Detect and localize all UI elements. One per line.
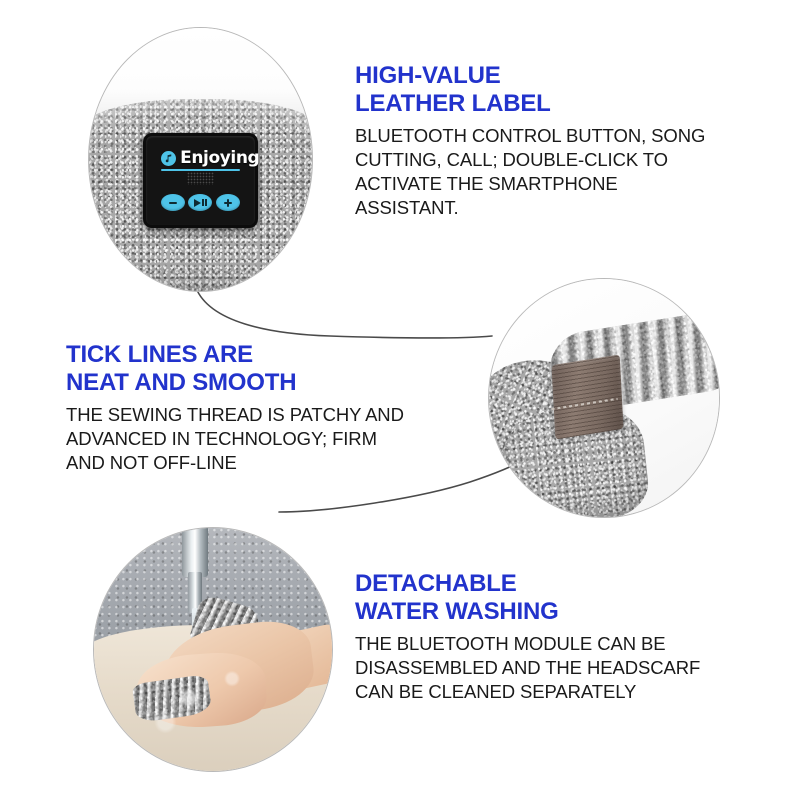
body-line-3: CAN BE CLEANED SEPARATELY	[355, 680, 707, 704]
volume-up-button[interactable]	[216, 194, 240, 211]
body-line-3: ACTIVATE THE SMARTPHONE	[355, 172, 707, 196]
connector-circle1-to-circle2	[196, 288, 492, 338]
pause-icon-bar-1	[202, 199, 204, 206]
photo-leather-label: Enjoying	[88, 27, 313, 292]
feature-text-leather-label: HIGH-VALUE LEATHER LABEL BLUETOOTH CONTR…	[355, 62, 707, 220]
label-accent-rule	[161, 169, 240, 171]
heading-line-2: WATER WASHING	[355, 598, 707, 626]
body-line-2: ADVANCED IN TECHNOLOGY; FIRM	[66, 427, 418, 451]
photo-tick-lines	[488, 278, 720, 518]
body-line-2: DISASSEMBLED AND THE HEADSCARF	[355, 656, 707, 680]
play-icon	[194, 199, 201, 207]
feature-body-tick-lines: THE SEWING THREAD IS PATCHY AND ADVANCED…	[66, 403, 418, 475]
pause-icon-bar-2	[205, 199, 207, 206]
bluetooth-control-label[interactable]: Enjoying	[143, 133, 259, 228]
body-line-4: ASSISTANT.	[355, 196, 707, 220]
speaker-grille	[187, 172, 214, 185]
body-line-3: AND NOT OFF-LINE	[66, 451, 418, 475]
heading-line-1: HIGH-VALUE	[355, 62, 707, 90]
elastic-strap	[552, 354, 624, 439]
body-line-1: THE BLUETOOTH MODULE CAN BE	[355, 632, 707, 656]
music-note-icon	[161, 151, 176, 166]
infographic-page: Enjoying	[0, 0, 800, 800]
photo-tick-lines-scene	[489, 279, 719, 517]
feature-text-tick-lines: TICK LINES ARE NEAT AND SMOOTH THE SEWIN…	[66, 341, 418, 475]
photo-leather-label-scene: Enjoying	[89, 28, 312, 291]
feature-text-water-washing: DETACHABLE WATER WASHING THE BLUETOOTH M…	[355, 570, 707, 704]
feature-body-leather-label: BLUETOOTH CONTROL BUTTON, SONG CUTTING, …	[355, 124, 707, 220]
body-line-1: THE SEWING THREAD IS PATCHY AND	[66, 403, 418, 427]
plus-icon-vertical	[227, 199, 229, 207]
feature-heading-water-washing: DETACHABLE WATER WASHING	[355, 570, 707, 627]
play-pause-button[interactable]	[188, 194, 212, 211]
volume-down-button[interactable]	[161, 194, 185, 211]
body-line-2: CUTTING, CALL; DOUBLE-CLICK TO	[355, 148, 707, 172]
soap-suds	[94, 528, 332, 771]
heading-line-1: DETACHABLE	[355, 570, 707, 598]
body-line-1: BLUETOOTH CONTROL BUTTON, SONG	[355, 124, 707, 148]
photo-water-washing-scene	[94, 528, 332, 771]
feature-heading-leather-label: HIGH-VALUE LEATHER LABEL	[355, 62, 707, 119]
feature-body-water-washing: THE BLUETOOTH MODULE CAN BE DISASSEMBLED…	[355, 632, 707, 704]
label-brand-row: Enjoying	[161, 150, 240, 167]
minus-icon	[169, 202, 177, 204]
feature-heading-tick-lines: TICK LINES ARE NEAT AND SMOOTH	[66, 341, 418, 398]
photo-water-washing	[93, 527, 333, 772]
heading-line-2: NEAT AND SMOOTH	[66, 369, 418, 397]
heading-line-2: LEATHER LABEL	[355, 90, 707, 118]
heading-line-1: TICK LINES ARE	[66, 341, 418, 369]
label-brand-text: Enjoying	[180, 150, 259, 167]
label-button-row	[161, 194, 240, 211]
